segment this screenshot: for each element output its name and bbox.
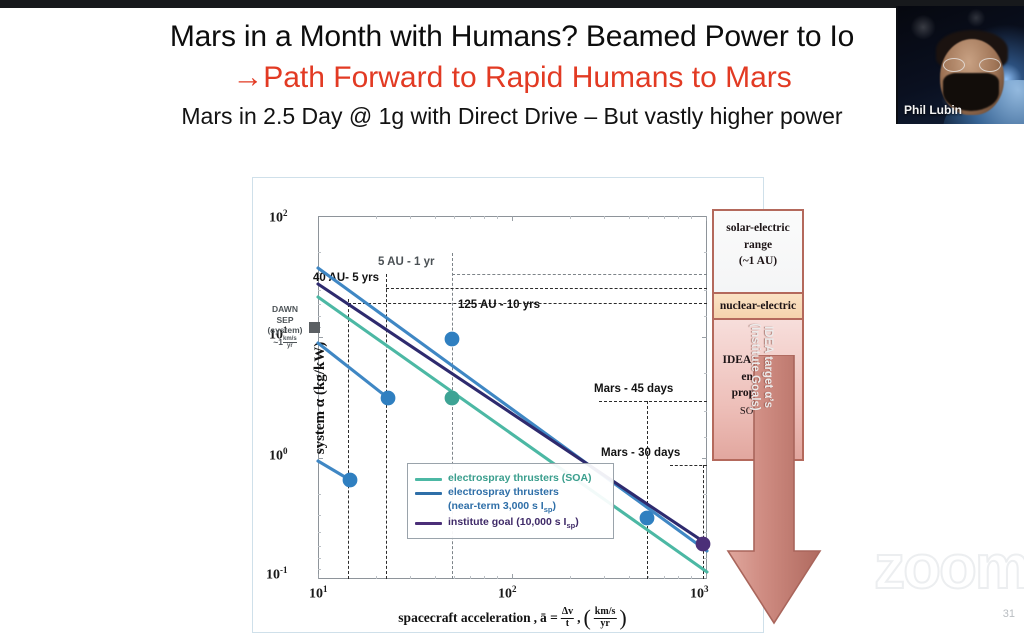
idea-target-arrow: IDEA target α’s (Institute Goals) [724, 355, 824, 630]
solar-electric-range-box: solar-electric range (~1 AU) [712, 209, 804, 294]
dawn-sep-line3: (system) [268, 325, 303, 335]
series-line-lower-branch [318, 343, 388, 398]
x-axis-title-text: spacecraft acceleration [398, 610, 530, 626]
idea-target-line2: (Institute Goals) [749, 323, 761, 411]
data-point-marker [640, 511, 655, 526]
participant-name-label: Phil Lubin [904, 103, 962, 117]
y-axis-tick-label-0.1: 10-1 [266, 565, 288, 584]
legend-item-0: electrospray thrusters (SOA) [415, 472, 605, 485]
x-axis-symbol: ā = [540, 610, 558, 626]
zoom-watermark: zoom [874, 532, 1024, 603]
legend-swatch-nearterm [415, 492, 442, 495]
down-arrow-icon [724, 355, 824, 630]
dawn-sep-annotation: DAWN SEP (system) ~1km/syr [256, 304, 314, 349]
solar-electric-line3: (~1 AU) [714, 253, 802, 270]
legend-item-2: institute goal (10,000 s Isp) [415, 516, 605, 531]
window-top-bar [0, 0, 1024, 8]
slide-title-block: Mars in a Month with Humans? Beamed Powe… [0, 14, 1024, 154]
data-point-marker [381, 391, 396, 406]
dawn-sep-unit-num: km/s [283, 336, 297, 343]
dawn-sep-unit-den: yr [287, 343, 293, 349]
idea-target-line1: IDEA target α’s [762, 326, 774, 408]
legend-label-soa: electrospray thrusters (SOA) [448, 472, 592, 485]
x-axis-tick-label-1000: 103 [690, 584, 709, 603]
legend-label-goal-sub: sp [566, 521, 575, 530]
legend-label-institute-goal: institute goal (10,000 s Isp) [448, 516, 579, 531]
dawn-sep-line1: DAWN [272, 304, 298, 314]
x-axis-title: spacecraft acceleration, ā = Δv t , ( km… [398, 605, 626, 631]
data-point-marker [445, 391, 460, 406]
dawn-sep-line4: ~1 [273, 337, 283, 347]
dawn-sep-line2: SEP [276, 315, 293, 325]
legend-item-1: electrospray thrusters(near-term 3,000 s… [415, 486, 605, 514]
slide-title-highlight-text: Path Forward to Rapid Humans to Mars [263, 61, 792, 94]
y-axis-tick-label-100: 102 [269, 208, 288, 227]
x-axis-tick-label-100: 102 [498, 584, 517, 603]
x-axis-unit-fraction: km/s yr [594, 607, 617, 628]
page-title: Mars in a Month with Humans? Beamed Powe… [0, 14, 1024, 54]
x-axis-tick-label-10: 101 [309, 584, 328, 603]
glasses-icon [943, 58, 1001, 72]
legend-label-nearterm-a: electrospray thrusters [448, 486, 559, 498]
plot-area: system α (kg/kW) spacecraft acceleration… [318, 216, 707, 579]
chart-legend: electrospray thrusters (SOA) electrospra… [407, 463, 614, 539]
solar-electric-line2: range [714, 237, 802, 254]
y-axis-tick-label-1: 100 [269, 446, 288, 465]
chart-figure: 102 101 100 10-1 101 102 103 system α (k… [252, 177, 764, 633]
slide-subtitle: Mars in 2.5 Day @ 1g with Direct Drive –… [0, 94, 1024, 129]
legend-label-nearterm: electrospray thrusters(near-term 3,000 s… [448, 486, 559, 514]
right-arrow-icon: → [232, 59, 263, 94]
x-axis-unit-numerator: km/s [594, 607, 617, 618]
legend-label-goal-c: ) [575, 516, 579, 528]
solar-electric-line1: solar-electric [714, 220, 802, 237]
x-axis-fraction-numerator: Δv [561, 607, 574, 618]
x-axis-unit-denominator: yr [600, 619, 609, 629]
slide-page-number: 31 [1003, 608, 1015, 620]
nuclear-electric-box: nuclear-electric [712, 294, 804, 318]
legend-label-nearterm-b: (near-term 3,000 s I [448, 500, 544, 512]
data-point-marker [696, 537, 711, 552]
data-point-marker [343, 473, 358, 488]
x-axis-fraction-denominator: t [566, 619, 569, 629]
legend-label-goal-a: institute goal (10,000 s I [448, 516, 566, 528]
legend-label-nearterm-c: ) [552, 500, 556, 512]
legend-swatch-institute-goal [415, 522, 442, 525]
data-point-marker [445, 332, 460, 347]
idea-target-arrow-label: IDEA target α’s (Institute Goals) [748, 323, 774, 411]
slide-title-highlight: →Path Forward to Rapid Humans to Mars [0, 54, 1024, 95]
x-axis-fraction: Δv t [561, 607, 574, 628]
legend-swatch-soa [415, 478, 442, 481]
video-participant-tile[interactable]: Phil Lubin [896, 6, 1024, 124]
